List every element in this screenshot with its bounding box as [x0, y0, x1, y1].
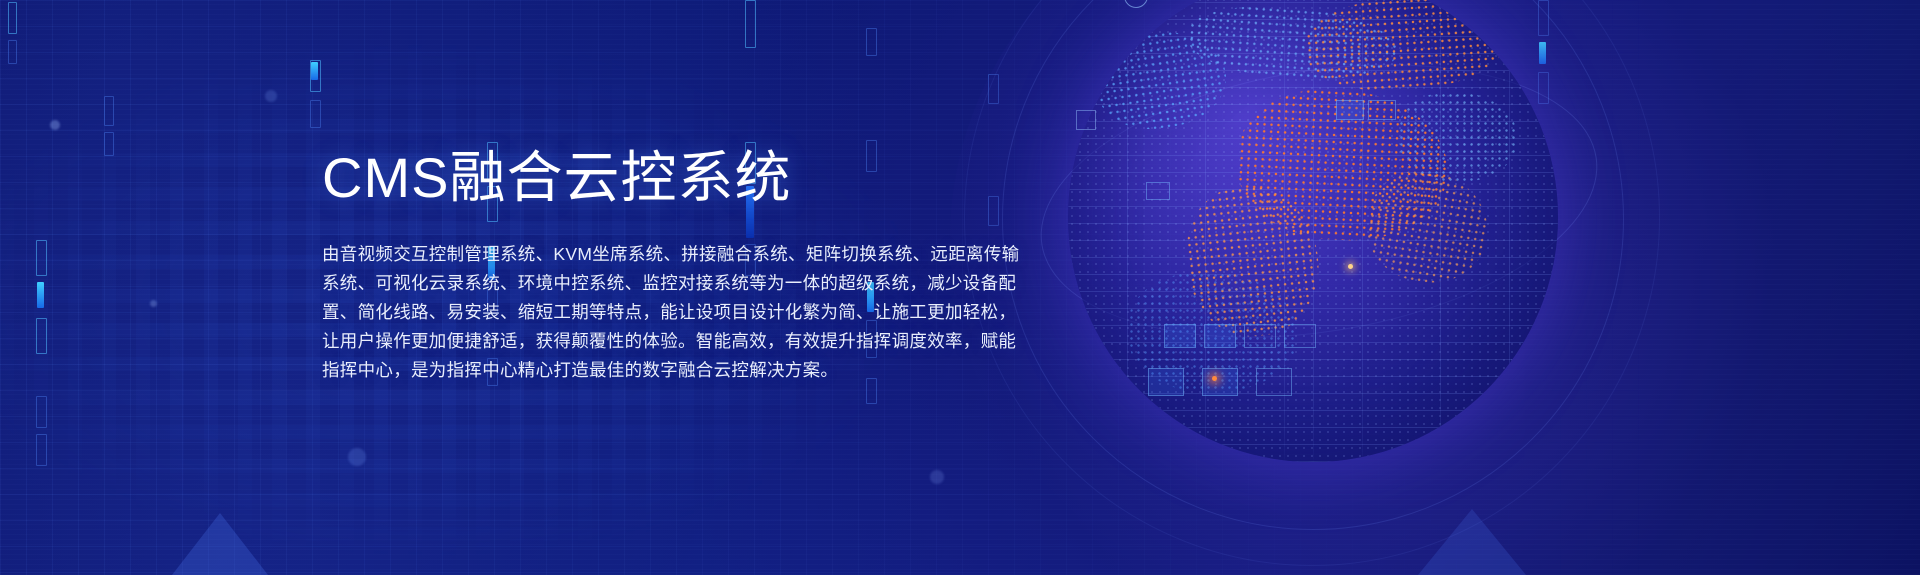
deco-bar-icon: [104, 96, 114, 126]
glow-dot: [50, 120, 60, 130]
globe-marker-icon: [1076, 110, 1096, 130]
globe-marker-icon: [1202, 368, 1238, 396]
banner-content: CMS融合云控系统 由音视频交互控制管理系统、KVM坐席系统、拼接融合系统、矩阵…: [322, 150, 922, 385]
deco-bar-icon: [866, 28, 877, 56]
globe-highlight-dot: [1212, 376, 1217, 381]
deco-bar-icon: [37, 282, 44, 308]
description-line: 指挥中心，是为指挥中心精心打造最佳的数字融合云控解决方案。: [322, 356, 922, 385]
glow-dot: [265, 90, 277, 102]
globe-landmass: [1398, 92, 1518, 182]
globe-hud-chip: [1284, 324, 1316, 348]
description-line: 让用户操作更加便捷舒适，获得颠覆性的体验。智能高效，有效提升指挥调度效率，赋能: [322, 327, 922, 356]
digital-globe: [950, 0, 1670, 575]
glow-dot: [150, 300, 157, 307]
hero-banner: CMS融合云控系统 由音视频交互控制管理系统、KVM坐席系统、拼接融合系统、矩阵…: [0, 0, 1920, 575]
deco-bar-icon: [745, 0, 756, 48]
globe-hud-chip: [1164, 324, 1196, 348]
globe-marker-icon: [1148, 368, 1184, 396]
glow-dot: [930, 470, 944, 484]
deco-bar-icon: [311, 62, 318, 80]
deco-bar-icon: [36, 240, 47, 276]
deco-bar-icon: [8, 40, 17, 64]
deco-bar-icon: [36, 318, 47, 354]
description-line: 系统、可视化云录系统、环境中控系统、监控对接系统等为一体的超级系统，减少设备配: [322, 269, 922, 298]
globe-hud-chip: [1336, 100, 1364, 120]
deco-bar-icon: [8, 2, 17, 34]
description-line: 由音视频交互控制管理系统、KVM坐席系统、拼接融合系统、矩阵切换系统、远距离传输: [322, 240, 922, 269]
globe-hud-chip: [1368, 100, 1396, 120]
globe-highlight-dot: [1348, 264, 1353, 269]
deco-bar-icon: [310, 100, 321, 128]
globe-marker-icon: [1256, 368, 1292, 396]
glow-dot: [348, 448, 366, 466]
deco-bar-icon: [36, 434, 47, 466]
globe-hud-chip: [1146, 182, 1170, 200]
deco-bar-icon: [36, 396, 47, 428]
description-line: 置、简化线路、易安装、缩短工期等特点，能让设项目设计化繁为简、让施工更加轻松，: [322, 298, 922, 327]
deco-triangle-icon: [172, 513, 268, 575]
page-title: CMS融合云控系统: [322, 150, 922, 206]
globe-hud-chip: [1204, 324, 1236, 348]
banner-description: 由音视频交互控制管理系统、KVM坐席系统、拼接融合系统、矩阵切换系统、远距离传输…: [322, 240, 922, 385]
globe-hud-chip: [1244, 324, 1276, 348]
deco-bar-icon: [104, 132, 114, 156]
